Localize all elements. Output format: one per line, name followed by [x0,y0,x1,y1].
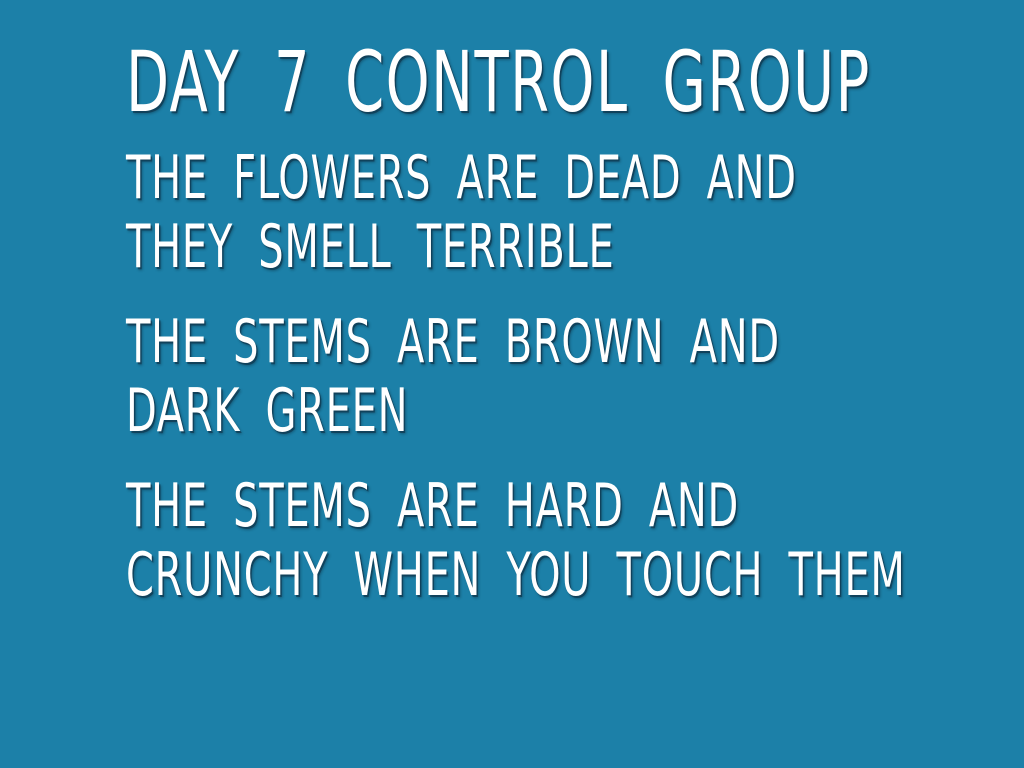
slide-title: DAY 7 CONTROL GROUP [126,34,740,130]
slide-line: THE FLOWERS ARE DEAD AND [126,144,740,213]
slide-line: THEY SMELL TERRIBLE [126,213,740,282]
slide-line: THE STEMS ARE BROWN AND [126,308,740,377]
presentation-slide: DAY 7 CONTROL GROUP THE FLOWERS ARE DEAD… [0,0,1024,768]
slide-paragraph: THE STEMS ARE HARD AND CRUNCHY WHEN YOU … [126,472,956,610]
slide-paragraph: THE STEMS ARE BROWN AND DARK GREEN [126,308,956,446]
slide-paragraph: THE FLOWERS ARE DEAD AND THEY SMELL TERR… [126,144,956,282]
slide-line: THE STEMS ARE HARD AND [126,472,740,541]
slide-line: DARK GREEN [126,377,740,446]
slide-content: DAY 7 CONTROL GROUP THE FLOWERS ARE DEAD… [126,34,956,610]
slide-line: CRUNCHY WHEN YOU TOUCH THEM [126,541,740,610]
